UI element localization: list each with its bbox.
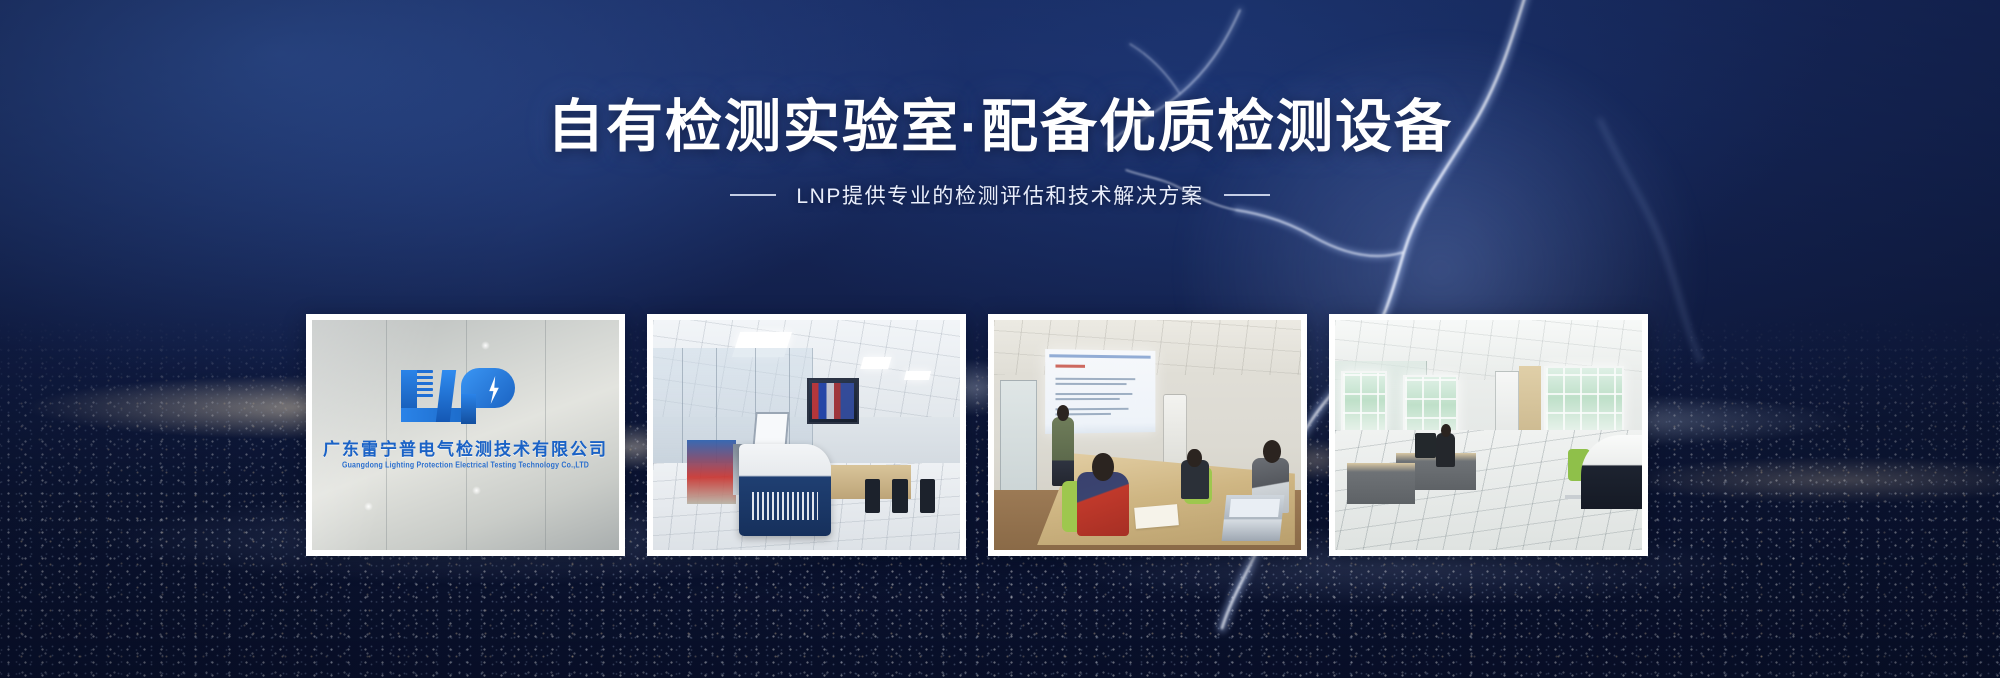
photo-training-meeting-room — [994, 320, 1301, 550]
photo-gallery: 广东雷宁普电气检测技术有限公司 Guangdong Lighting Prote… — [306, 314, 1648, 556]
wall-monitor — [807, 378, 859, 424]
attendee-front — [1077, 472, 1129, 536]
control-console — [739, 444, 831, 536]
photo-open-office — [1335, 320, 1642, 550]
lnp-logo-block: 广东雷宁普电气检测技术有限公司 Guangdong Lighting Prote… — [312, 364, 619, 469]
gallery-card-open-office[interactable] — [1329, 314, 1648, 556]
hero-banner: 自有检测实验室·配备优质检测设备 LNP提供专业的检测评估和技术解决方案 — [0, 0, 2000, 678]
gallery-card-training-meeting-room[interactable] — [988, 314, 1307, 556]
laptop — [1222, 495, 1285, 541]
lnp-lightning-logo-icon — [399, 364, 533, 426]
gallery-card-company-signboard[interactable]: 广东雷宁普电气检测技术有限公司 Guangdong Lighting Prote… — [306, 314, 625, 556]
hero-copy: 自有检测实验室·配备优质检测设备 LNP提供专业的检测评估和技术解决方案 — [0, 96, 2000, 210]
rule-left-icon — [730, 194, 776, 196]
seated-worker — [1436, 433, 1454, 468]
presenter — [1052, 417, 1073, 486]
page-title: 自有检测实验室·配备优质检测设备 — [0, 96, 2000, 160]
company-name-en: Guangdong Lighting Protection Electrical… — [342, 461, 589, 470]
company-name-cn: 广东雷宁普电气检测技术有限公司 — [323, 435, 608, 460]
photo-testing-laboratory — [653, 320, 960, 550]
subtitle-row: LNP提供专业的检测评估和技术解决方案 — [0, 180, 2000, 210]
photo-company-signboard: 广东雷宁普电气检测技术有限公司 Guangdong Lighting Prote… — [312, 320, 619, 550]
rule-right-icon — [1224, 194, 1270, 196]
page-subtitle: LNP提供专业的检测评估和技术解决方案 — [796, 180, 1203, 210]
gallery-card-testing-laboratory[interactable] — [647, 314, 966, 556]
